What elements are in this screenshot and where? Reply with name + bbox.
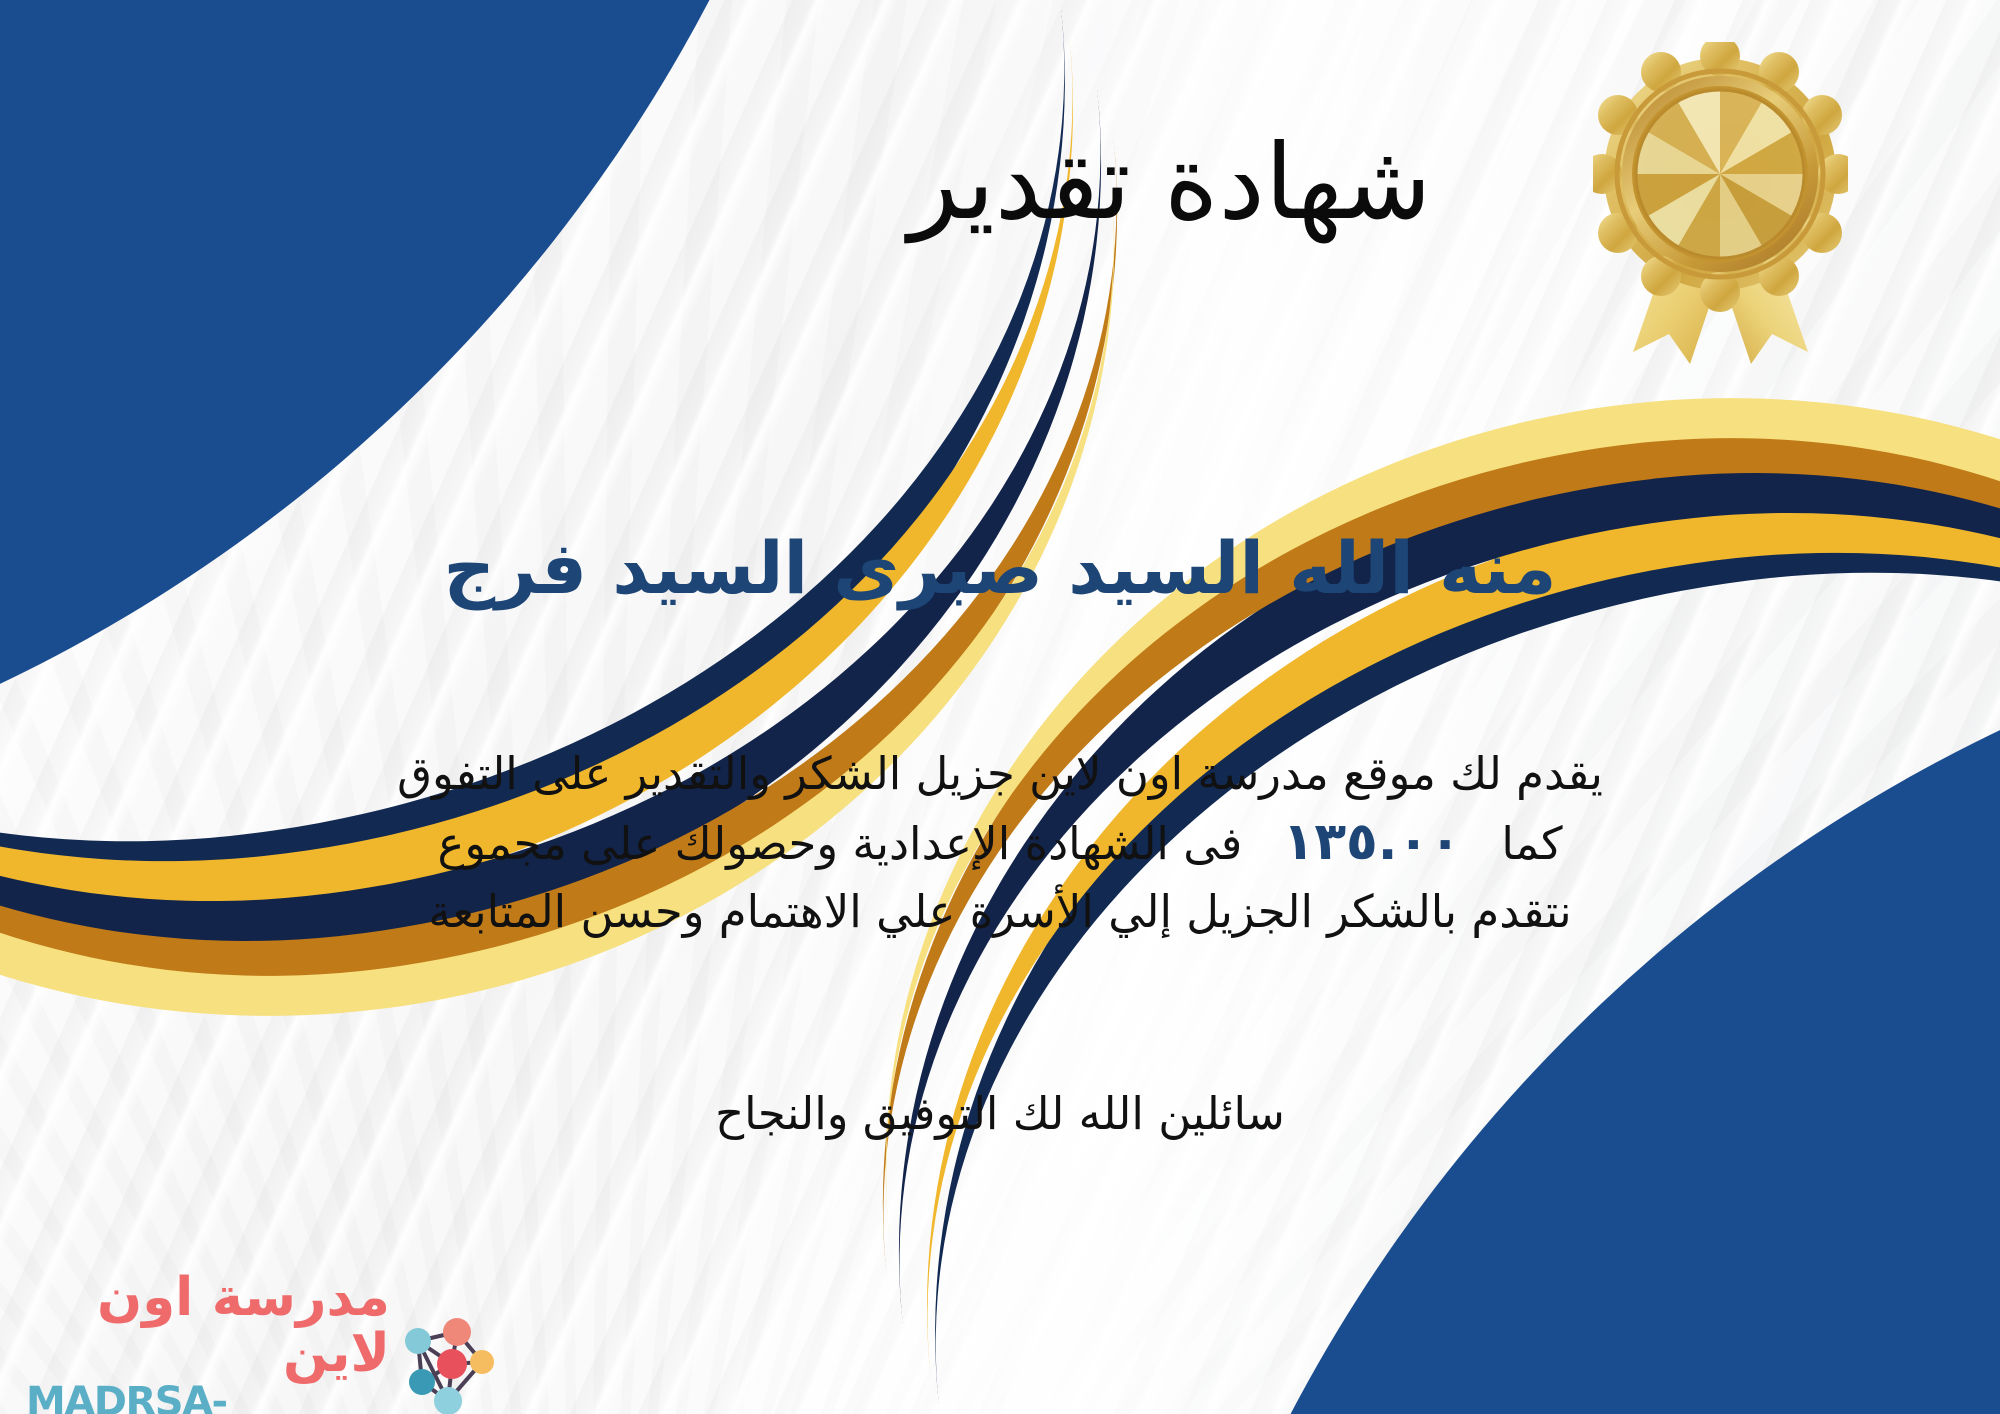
score-value: ١٣٥.٠٠ <box>1257 812 1487 872</box>
body-line-2-suffix: كما <box>1501 817 1562 870</box>
body-line-2-prefix: فى الشهادة الإعدادية وحصولك على مجموع <box>437 817 1242 870</box>
logo-website: MADRSA-ONLINE.COM <box>26 1381 390 1414</box>
certificate-title: شهادة تقدير <box>0 128 2000 237</box>
certificate-canvas: شهادة تقدير منه الله السيد صبرى السيد فر… <box>0 0 2000 1414</box>
body-line-2: كما ١٣٥.٠٠ فى الشهادة الإعدادية وحصولك ع… <box>50 806 1950 880</box>
brand-logo[interactable]: مدرسة اون لاين MADRSA-ONLINE.COM <box>26 1270 496 1398</box>
network-nodes-icon <box>400 1316 496 1414</box>
body-line-3: نتقدم بالشكر الجزيل إلي الأسرة علي الاهت… <box>50 880 1950 944</box>
body-line-1: يقدم لك موقع مدرسة اون لاين جزيل الشكر و… <box>50 742 1950 806</box>
certificate-body: يقدم لك موقع مدرسة اون لاين جزيل الشكر و… <box>50 742 1950 944</box>
recipient-name: منه الله السيد صبرى السيد فرج <box>0 527 2000 610</box>
closing-line: سائلين الله لك التوفيق والنجاح <box>50 1082 1950 1145</box>
logo-arabic-name: مدرسة اون لاين <box>26 1270 390 1381</box>
